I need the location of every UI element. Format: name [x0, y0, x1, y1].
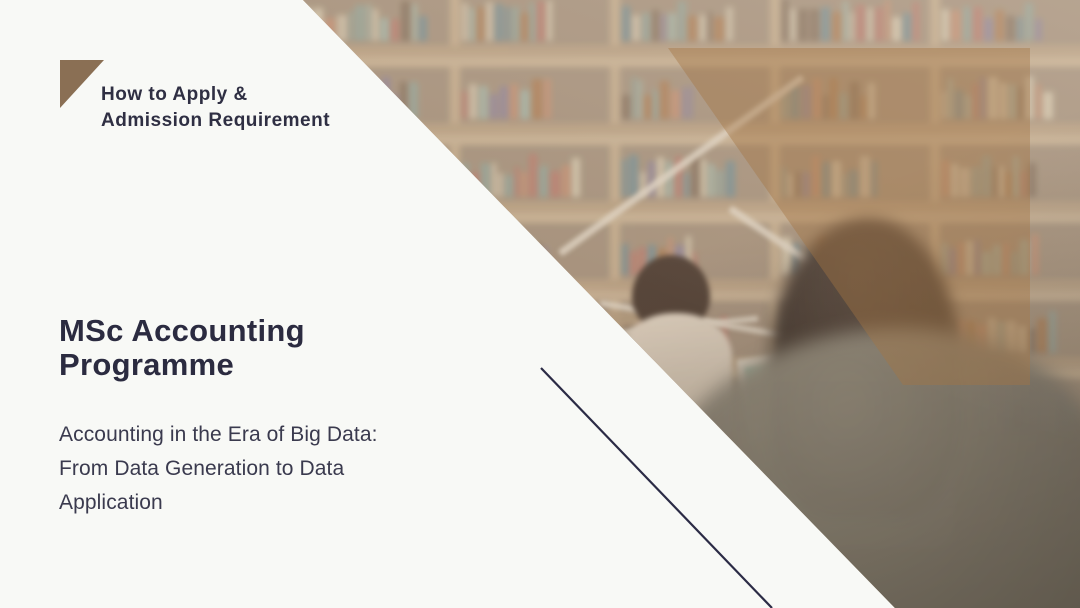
book-spine [358, 158, 365, 197]
book-spine [311, 159, 315, 197]
book-spine [507, 313, 516, 353]
book-spine [526, 324, 530, 353]
book-spine [668, 402, 677, 431]
book-spine [485, 240, 492, 275]
slide-title: MSc Accounting Programme [59, 314, 479, 382]
book-spine [404, 155, 412, 197]
book-spine [678, 397, 686, 431]
book-spine [302, 155, 309, 197]
book-spine [302, 252, 309, 275]
book-spine [564, 393, 573, 431]
book-spine [532, 315, 540, 353]
brown-triangle-marker-icon [60, 60, 104, 108]
book-spine [517, 397, 522, 431]
bookshelf-cell [300, 145, 460, 201]
book-spine [362, 250, 371, 275]
book-spine [372, 239, 376, 275]
book-spine [354, 96, 358, 119]
book-spine [344, 167, 349, 197]
book-spine [482, 408, 487, 431]
book-spine [554, 396, 563, 431]
book-spine [643, 400, 648, 431]
book-spine [324, 243, 330, 275]
presentation-slide: How to Apply & Admission Requirement MSc… [0, 0, 1080, 608]
slide-eyebrow-heading: How to Apply & Admission Requirement [101, 82, 330, 134]
bookshelf-cell [460, 301, 620, 357]
book-spine [317, 245, 322, 275]
bookshelf-cell [460, 379, 620, 435]
book-spine [510, 234, 519, 275]
book-spine [378, 239, 384, 275]
book-spine [385, 169, 393, 197]
book-spine [337, 164, 342, 197]
book-spine [474, 239, 484, 275]
book-spine [506, 404, 514, 431]
bookshelf-cell [300, 223, 460, 279]
book-spine [543, 391, 552, 431]
book-spine [518, 328, 524, 353]
book-spine [496, 327, 506, 353]
book-spine [535, 244, 541, 275]
book-spine [543, 247, 548, 275]
book-spine [494, 250, 498, 275]
book-spine [521, 248, 527, 275]
book-spine [386, 240, 395, 275]
book-spine [317, 168, 325, 197]
book-spine [327, 173, 334, 197]
book-spine [366, 91, 371, 119]
book-spine [534, 402, 541, 431]
book-spine [500, 238, 508, 275]
book-spine [350, 247, 360, 275]
book-spine [660, 395, 666, 431]
book-spine [480, 318, 485, 353]
book-spine [649, 389, 657, 431]
book-spine [622, 396, 630, 431]
slide-subtitle: Accounting in the Era of Big Data: From … [59, 418, 479, 520]
book-spine [395, 173, 402, 197]
book-spine [340, 235, 348, 275]
book-spine [302, 8, 312, 41]
book-spine [378, 155, 383, 197]
book-spine [524, 398, 533, 431]
book-spine [311, 246, 315, 275]
book-spine [462, 246, 472, 275]
book-spine [392, 94, 398, 119]
book-spine [344, 88, 352, 119]
book-spine [351, 169, 356, 197]
book-spine [500, 402, 504, 431]
book-spine [337, 92, 342, 119]
book-spine [373, 90, 380, 119]
book-spine [367, 157, 377, 197]
book-spine [489, 405, 498, 431]
book-spine [360, 87, 364, 119]
book-spine [332, 246, 338, 275]
book-spine [529, 240, 533, 275]
book-spine [486, 315, 493, 353]
book-spine [632, 398, 641, 431]
